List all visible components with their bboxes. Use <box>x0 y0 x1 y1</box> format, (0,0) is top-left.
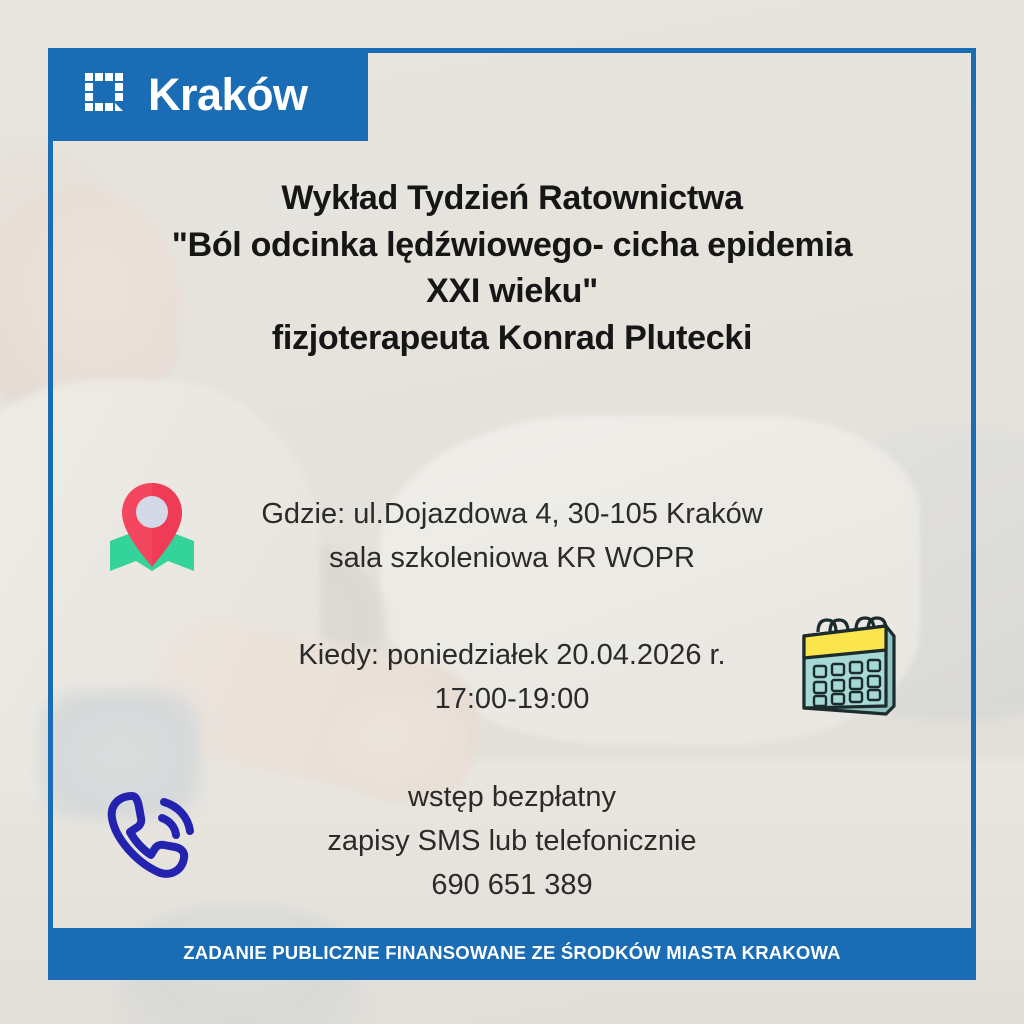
krakow-logo-bar: Kraków <box>48 48 368 141</box>
when-block: Kiedy: poniedziałek 20.04.2026 r. 17:00-… <box>64 633 960 721</box>
title-line-3: XXI wieku" <box>64 268 960 315</box>
contact-line-2: zapisy SMS lub telefonicznie <box>64 819 960 863</box>
where-line-1: Gdzie: ul.Dojazdowa 4, 30-105 Kraków <box>64 492 960 536</box>
when-line-1: Kiedy: poniedziałek 20.04.2026 r. <box>64 633 960 677</box>
contact-block: wstęp bezpłatny zapisy SMS lub telefonic… <box>64 775 960 907</box>
event-poster: Kraków Wykład Tydzień Ratownictwa "Ból o… <box>0 0 1024 1024</box>
page-title: Wykład Tydzień Ratownictwa "Ból odcinka … <box>64 175 960 361</box>
contact-phone-number: 690 651 389 <box>64 863 960 907</box>
when-line-2: 17:00-19:00 <box>64 677 960 721</box>
funding-footer-text: ZADANIE PUBLICZNE FINANSOWANE ZE ŚRODKÓW… <box>183 942 840 964</box>
krakow-brand-label: Kraków <box>148 72 308 117</box>
where-line-2: sala szkoleniowa KR WOPR <box>64 536 960 580</box>
krakow-grid-logo-icon <box>84 72 130 118</box>
where-block: Gdzie: ul.Dojazdowa 4, 30-105 Kraków sal… <box>64 492 960 580</box>
contact-line-1: wstęp bezpłatny <box>64 775 960 819</box>
title-line-1: Wykład Tydzień Ratownictwa <box>64 175 960 222</box>
funding-footer-bar: ZADANIE PUBLICZNE FINANSOWANE ZE ŚRODKÓW… <box>53 928 971 978</box>
title-line-4: fizjoterapeuta Konrad Plutecki <box>64 315 960 362</box>
title-line-2: "Ból odcinka lędźwiowego- cicha epidemia <box>64 222 960 269</box>
